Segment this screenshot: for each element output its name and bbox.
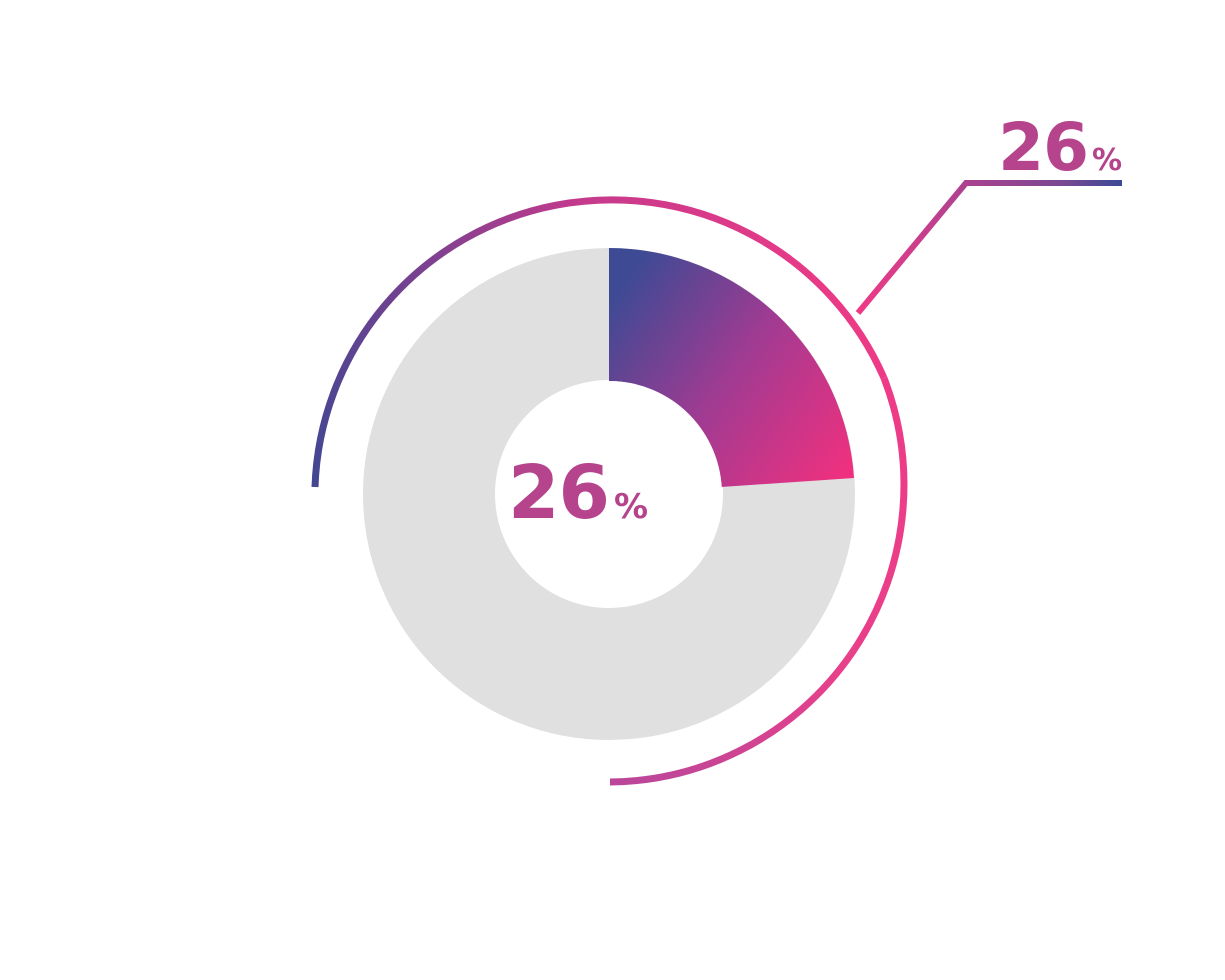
center-unit-label: % — [614, 487, 648, 527]
percentage-donut-infographic: 26 % 26 % — [0, 0, 1225, 980]
callout-value-label: 26 — [998, 109, 1088, 186]
callout-unit-label: % — [1092, 143, 1122, 178]
center-value-label: 26 — [508, 450, 609, 536]
donut-chart-svg: 26 % 26 % — [0, 0, 1225, 980]
callout-leader-line — [858, 183, 1122, 313]
